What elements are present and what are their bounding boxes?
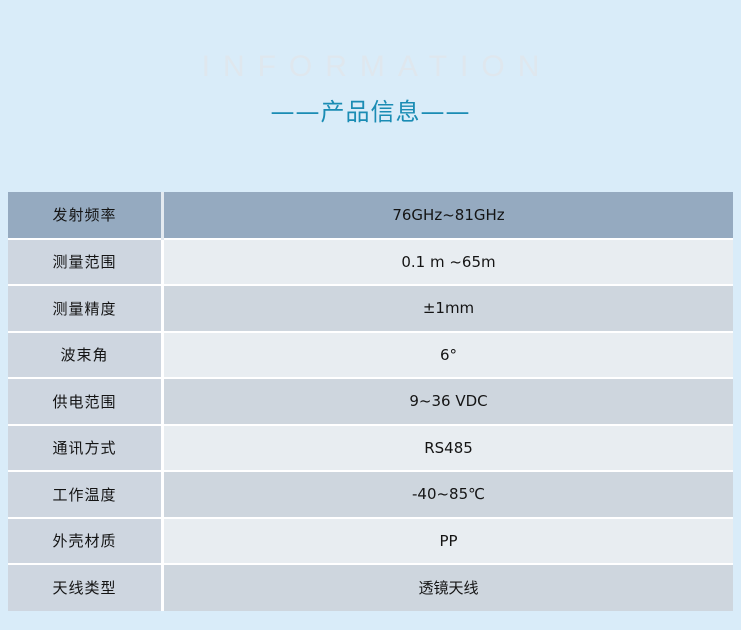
page-subtitle-chinese: ——产品信息—— [0,97,741,127]
table-row: 外壳材质 PP [8,518,733,565]
table-row: 测量范围 0.1 m ~65m [8,239,733,286]
table-row: 工作温度 -40~85℃ [8,471,733,518]
table-row: 通讯方式 RS485 [8,425,733,472]
product-information-page: INFORMATION ——产品信息—— 发射频率 76GHz~81GHz 测量… [0,0,741,630]
spec-value: -40~85℃ [163,471,734,518]
spec-label: 发射频率 [8,192,163,239]
spec-value: 76GHz~81GHz [163,192,734,239]
spec-value: 0.1 m ~65m [163,239,734,286]
spec-label: 天线类型 [8,564,163,611]
spec-value: RS485 [163,425,734,472]
table-row: 天线类型 透镜天线 [8,564,733,611]
page-title-english: INFORMATION [0,52,741,82]
table-row: 波束角 6° [8,332,733,379]
table-row: 测量精度 ±1mm [8,285,733,332]
table-row: 发射频率 76GHz~81GHz [8,192,733,239]
spec-label: 外壳材质 [8,518,163,565]
spec-value: PP [163,518,734,565]
spec-label: 测量范围 [8,239,163,286]
spec-label: 供电范围 [8,378,163,425]
section-header: INFORMATION ——产品信息—— [0,52,741,127]
spec-label: 工作温度 [8,471,163,518]
spec-value: 透镜天线 [163,564,734,611]
table-row: 供电范围 9~36 VDC [8,378,733,425]
spec-value: 9~36 VDC [163,378,734,425]
spec-value: 6° [163,332,734,379]
spec-label: 通讯方式 [8,425,163,472]
specification-table-body: 发射频率 76GHz~81GHz 测量范围 0.1 m ~65m 测量精度 ±1… [8,192,733,611]
specification-table: 发射频率 76GHz~81GHz 测量范围 0.1 m ~65m 测量精度 ±1… [8,192,733,611]
spec-label: 测量精度 [8,285,163,332]
spec-value: ±1mm [163,285,734,332]
spec-label: 波束角 [8,332,163,379]
